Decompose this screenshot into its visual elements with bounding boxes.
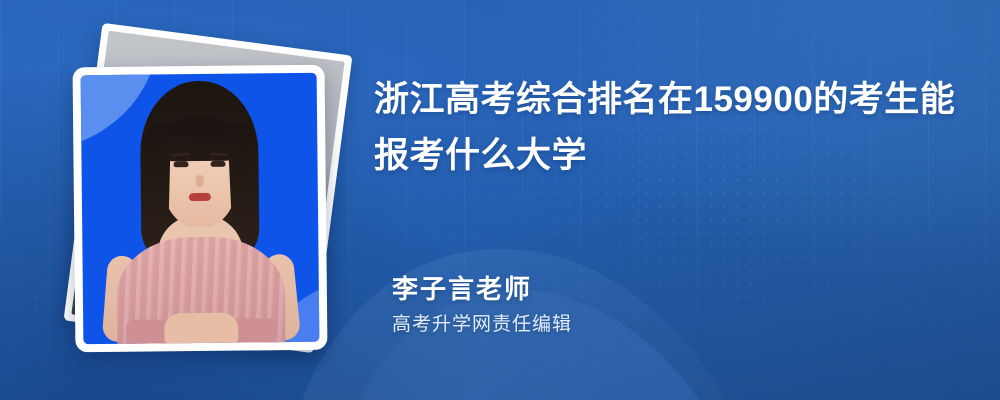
editor-portrait-photo xyxy=(81,73,320,344)
portrait-nose xyxy=(196,175,204,187)
byline: 李子言老师 高考升学网责任编辑 xyxy=(392,272,792,338)
avatar xyxy=(81,73,320,344)
portrait-mouth xyxy=(189,193,211,201)
portrait-hands xyxy=(164,313,238,344)
photo-card-stack xyxy=(52,30,352,360)
page-title: 浙江高考综合排名在159900的考生能报考什么大学 xyxy=(374,72,956,184)
author-role: 高考升学网责任编辑 xyxy=(392,312,792,338)
banner-text-block: 浙江高考综合排名在159900的考生能报考什么大学 李子言老师 高考升学网责任编… xyxy=(374,0,974,400)
portrait-eye-left xyxy=(174,161,189,167)
portrait-eye-right xyxy=(211,161,226,167)
article-cover-banner: 浙江高考综合排名在159900的考生能报考什么大学 李子言老师 高考升学网责任编… xyxy=(0,0,1000,400)
author-name: 李子言老师 xyxy=(392,272,792,306)
front-photo-card xyxy=(73,65,328,353)
